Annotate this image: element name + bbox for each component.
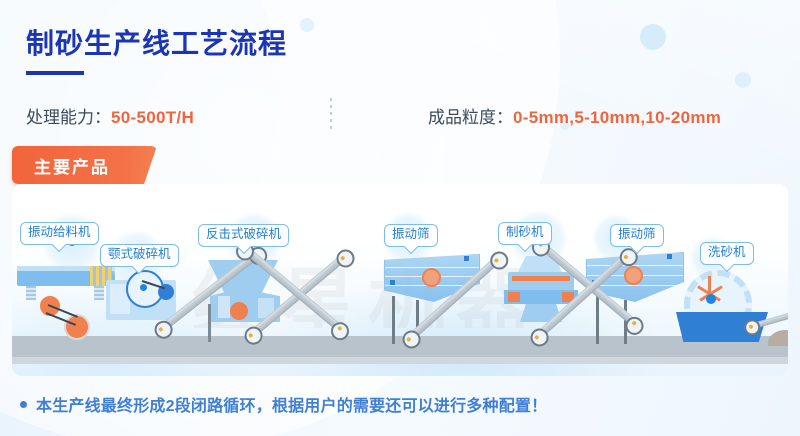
stat-capacity-label: 处理能力： (26, 108, 111, 127)
background-dot (300, 18, 314, 32)
label-vibrating-feeder: 振动给料机 (20, 222, 99, 245)
screen-leg (392, 296, 395, 344)
ground-lip (12, 357, 788, 364)
screen-exciter (624, 266, 643, 285)
label-vibrating-screen-2: 振动筛 (610, 224, 664, 247)
stat-capacity-value: 50-500T/H (111, 108, 194, 127)
pulley-center (340, 255, 346, 261)
label-sand-maker: 制砂机 (498, 222, 552, 245)
feeder-spring (94, 286, 104, 300)
sand-maker-housing (508, 272, 574, 292)
feeder-spring (26, 286, 36, 300)
main-products-badge-label: 主要产品 (34, 153, 110, 178)
sand-maker-motor (508, 292, 520, 302)
stat-capacity: 处理能力：50-500T/H (26, 103, 194, 128)
pulley-center (623, 254, 629, 260)
pulley-center (158, 327, 164, 333)
label-jaw-crusher: 颚式破碎机 (100, 244, 179, 267)
process-diagram-card: 红星机器 振动给料机 (12, 184, 788, 376)
stat-grain-size-label: 成品粒度： (428, 108, 513, 127)
screen-leg (596, 296, 599, 344)
pulley-center (631, 320, 637, 326)
impact-rotor-pulley (230, 302, 248, 320)
ground-band (12, 336, 788, 358)
bullet-icon (20, 401, 27, 408)
screen-fitting (667, 254, 672, 259)
pulley-center (494, 258, 500, 264)
label-vibrating-screen-1: 振动筛 (384, 224, 438, 247)
footer-note-text: 本生产线最终形成2段闭路循环，根据用户的需要还可以进行多种配置！ (36, 392, 547, 416)
pulley-center (337, 326, 343, 332)
screen-fitting (464, 256, 469, 261)
flowchart-banner: 制砂生产线工艺流程 处理能力：50-500T/H 成品粒度：0-5mm,5-10… (0, 0, 800, 436)
screen-exciter (422, 268, 441, 287)
pulley-center (748, 324, 753, 329)
washer-hub (706, 294, 716, 304)
label-impact-crusher: 反击式破碎机 (198, 224, 289, 247)
belt-support-leg (208, 304, 211, 342)
screen-fitting (390, 280, 395, 285)
flywheel-hub (140, 284, 147, 291)
page-title: 制砂生产线工艺流程 (26, 22, 287, 62)
impact-crusher-panel (218, 296, 230, 318)
pulley-center (534, 335, 540, 341)
title-underline (26, 71, 84, 75)
pulley-center (406, 337, 412, 343)
footer-note: 本生产线最终形成2段闭路循环，根据用户的需要还可以进行多种配置！ (20, 392, 547, 416)
sand-maker-rotor-band (512, 276, 570, 281)
label-sand-washer: 洗砂机 (700, 242, 754, 265)
header-divider (330, 98, 332, 132)
pulley-center (248, 333, 254, 339)
stat-grain-size: 成品粒度：0-5mm,5-10mm,10-20mm (428, 103, 721, 128)
main-products-badge: 主要产品 (12, 146, 144, 184)
stat-grain-size-value: 0-5mm,5-10mm,10-20mm (513, 108, 721, 127)
